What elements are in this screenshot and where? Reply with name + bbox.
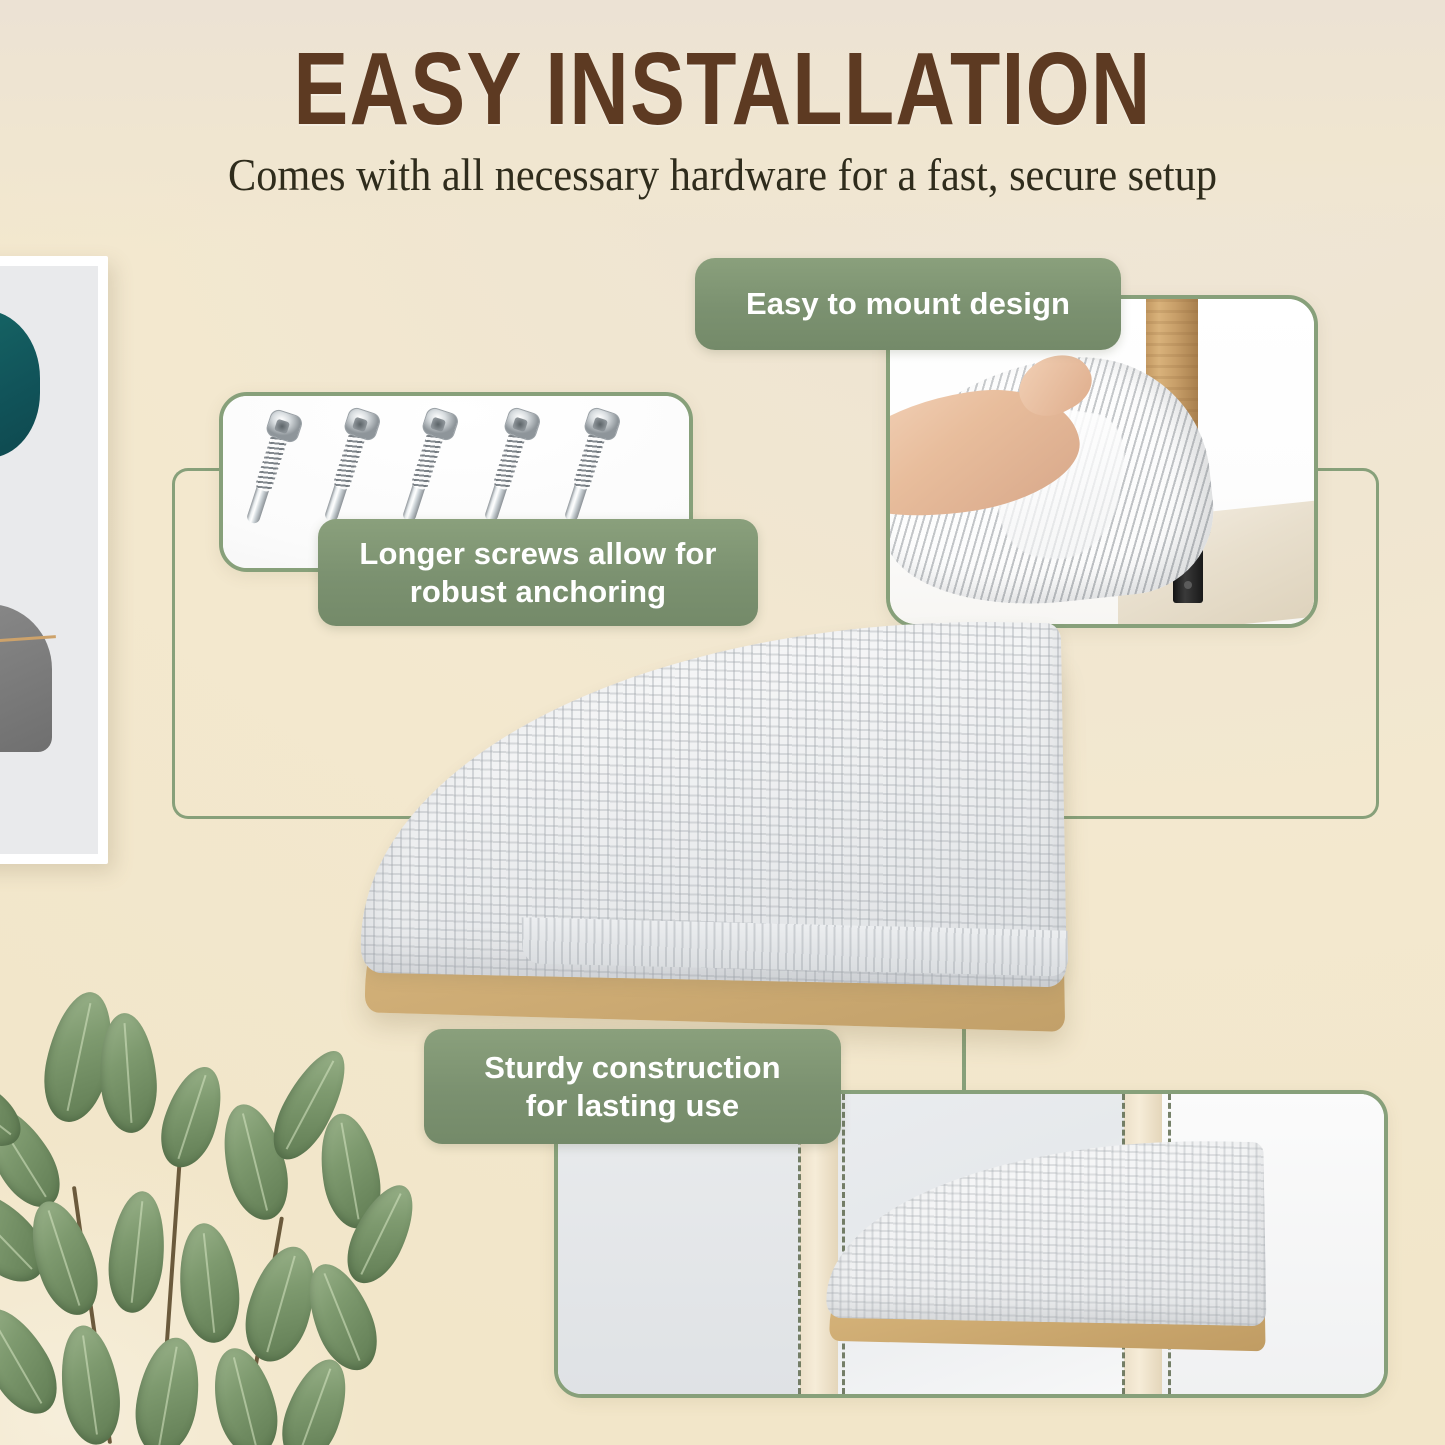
leaf-icon — [174, 1220, 244, 1345]
callout-label: Longer screws allow for robust anchoring — [359, 535, 716, 611]
leaf-icon — [128, 1333, 208, 1445]
callout-line-2: for lasting use — [526, 1088, 739, 1123]
corner-cat-shelf-installed — [822, 1136, 1272, 1350]
rubber-plant — [0, 985, 450, 1445]
wall-art-canvas — [0, 266, 98, 854]
installed-shelf-cushion — [823, 1134, 1266, 1327]
callout-label: Sturdy construction for lasting use — [484, 1049, 780, 1125]
callout-line-2: robust anchoring — [410, 574, 667, 609]
callout-sturdy-construction[interactable]: Sturdy construction for lasting use — [424, 1029, 841, 1144]
callout-line-1: Longer screws allow for — [359, 536, 716, 571]
wall-art-gray-shape — [0, 604, 52, 752]
abstract-wall-art — [0, 256, 108, 864]
leaf-icon — [104, 1189, 170, 1316]
callout-line-1: Sturdy construction — [484, 1050, 780, 1085]
page-subtitle: Comes with all necessary hardware for a … — [43, 151, 1401, 201]
leaf-icon — [54, 1322, 126, 1445]
callout-longer-screws[interactable]: Longer screws allow for robust anchoring — [318, 519, 758, 626]
leaf-icon — [151, 1060, 233, 1175]
corner-cat-shelf — [352, 612, 1076, 1032]
callout-easy-to-mount[interactable]: Easy to mount design — [695, 258, 1121, 350]
infographic-canvas: EASY INSTALLATION Comes with all necessa… — [0, 0, 1445, 1445]
header-block: EASY INSTALLATION Comes with all necessa… — [0, 36, 1445, 201]
leaf-icon — [0, 1296, 71, 1425]
callout-label: Easy to mount design — [746, 285, 1070, 323]
wall-art-teal-shape — [0, 310, 40, 458]
page-title: EASY INSTALLATION — [145, 36, 1301, 141]
